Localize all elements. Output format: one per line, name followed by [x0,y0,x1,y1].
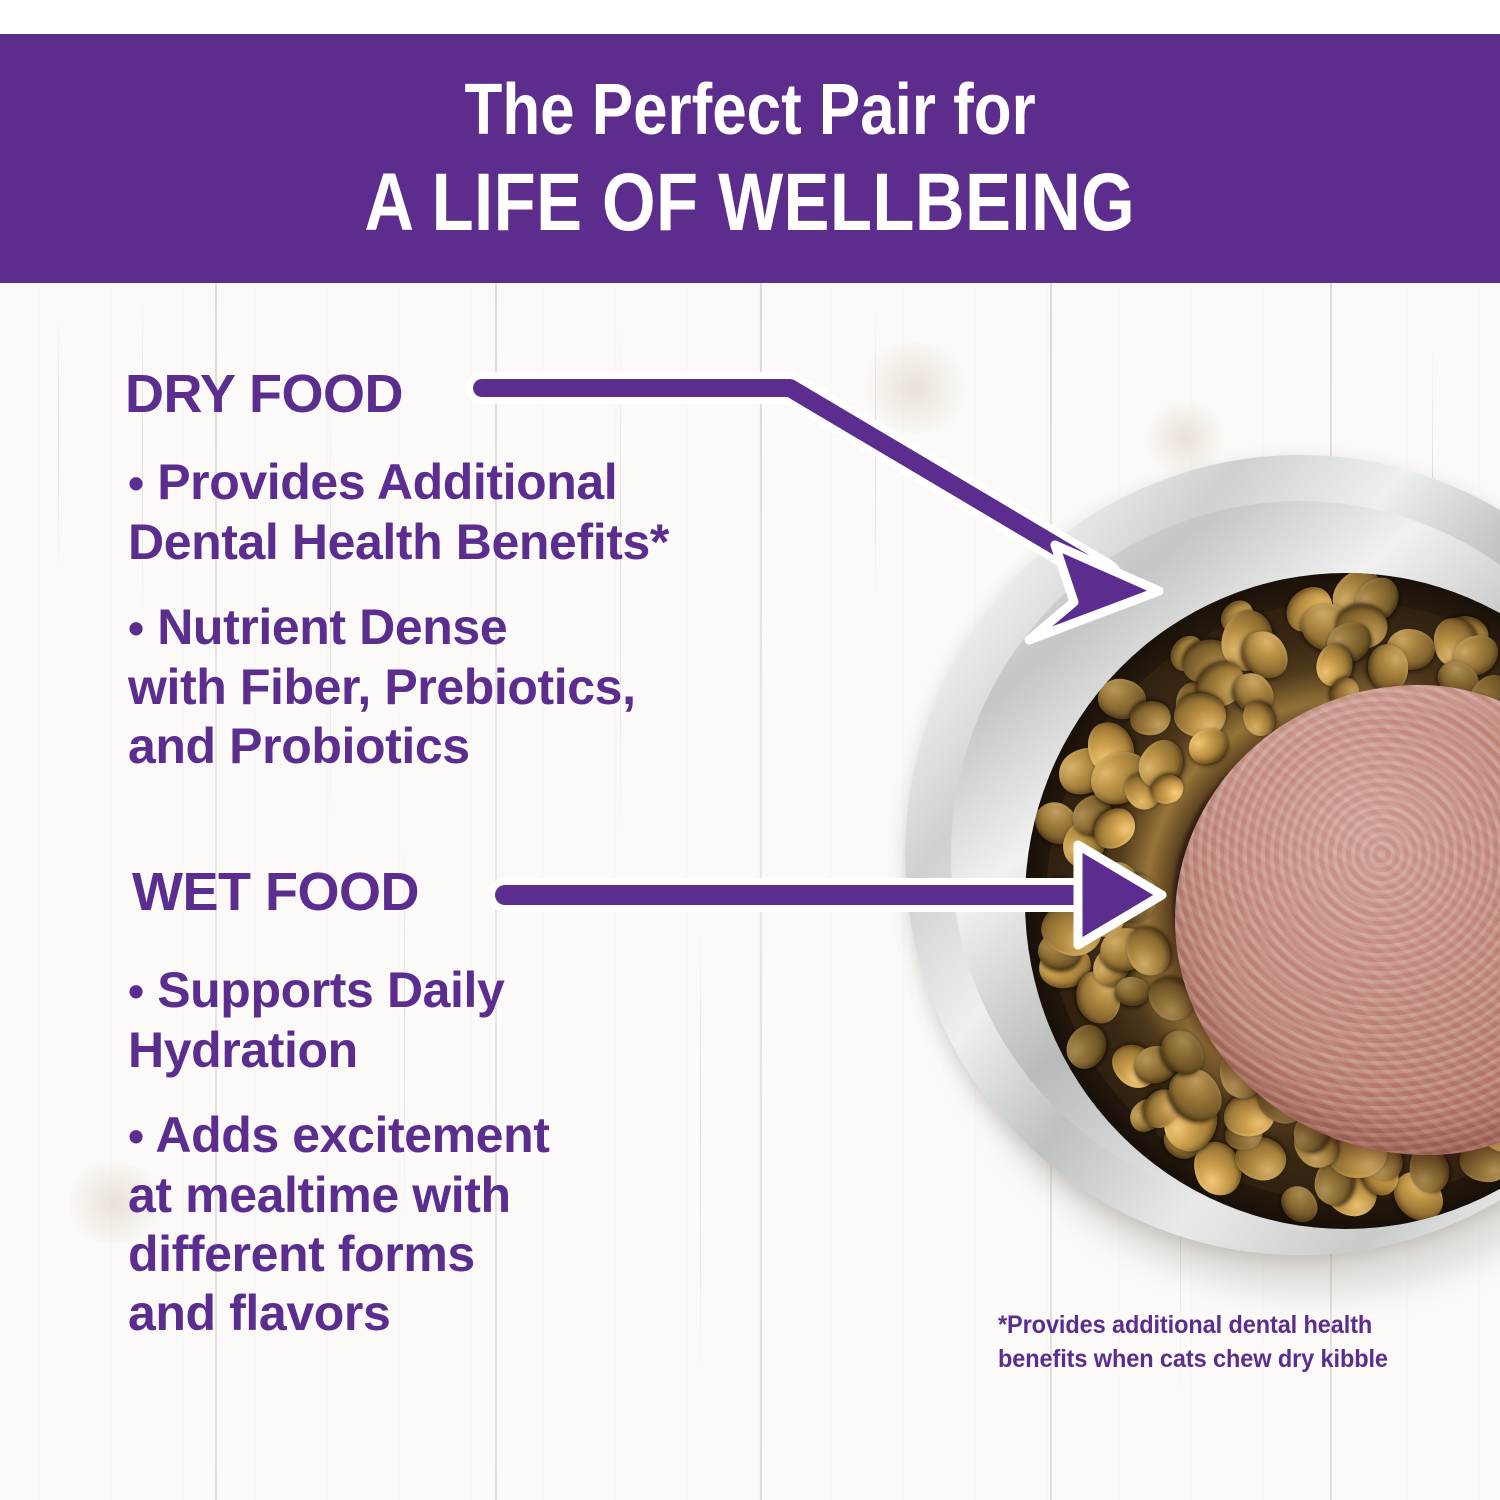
header-banner: The Perfect Pair for A LIFE OF WELLBEING [0,34,1500,283]
bullet-line: and Probiotics [128,717,808,776]
header-title-line2: A LIFE OF WELLBEING [365,159,1136,247]
bullet-dry-2: • Nutrient Dense with Fiber, Prebiotics,… [128,598,808,776]
bullet-line: Dental Health Benefits* [128,513,808,572]
bullet-line: Nutrient Dense [157,599,507,655]
bullet-dot: • [128,457,144,509]
bowl-inner-rim [951,501,1500,1209]
bowl-outer-rim [905,455,1500,1255]
bullet-line: and flavors [128,1284,808,1343]
copy-column: DRY FOOD • Provides Additional Dental He… [0,283,880,1500]
footnote: *Provides additional dental health benef… [998,1308,1393,1376]
footnote-line1: *Provides additional dental health [998,1308,1393,1342]
cat-food-bowl-photo [905,455,1500,1310]
bullet-line: different forms [128,1225,808,1284]
bullet-dot: • [128,602,144,654]
infographic-canvas: The Perfect Pair for A LIFE OF WELLBEING [0,0,1500,1500]
bullet-dry-1: • Provides Additional Dental Health Bene… [128,453,808,572]
bullet-wet-1: • Supports Daily Hydration [128,961,808,1080]
footnote-line2: benefits when cats chew dry kibble [998,1342,1393,1376]
section-heading-wet-food: WET FOOD [132,861,419,923]
bullet-line: Supports Daily [157,962,504,1018]
bullet-line: Hydration [128,1021,808,1080]
header-title-line1: The Perfect Pair for [464,71,1035,149]
bullet-line: Provides Additional [157,454,617,510]
top-white-strip [0,0,1500,34]
bullet-line: Adds excitement [155,1107,549,1163]
bowl-interior [1025,573,1500,1229]
bullet-line: at mealtime with [128,1166,808,1225]
bullet-dot: • [128,1110,144,1162]
bullet-dot: • [128,965,144,1017]
bullet-wet-2: • Adds excitement at mealtime with diffe… [128,1106,808,1343]
section-heading-dry-food: DRY FOOD [125,363,403,425]
bullet-line: with Fiber, Prebiotics, [128,658,808,717]
